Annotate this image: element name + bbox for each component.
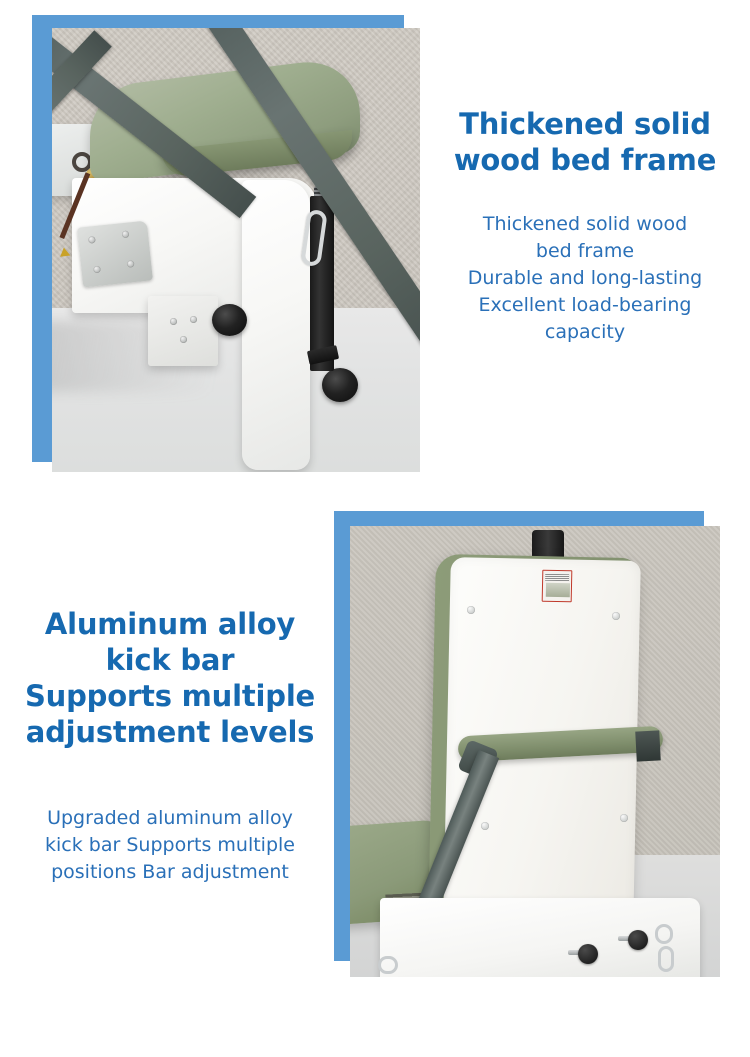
adjustment-knob xyxy=(578,944,598,964)
screw xyxy=(122,230,130,238)
screw xyxy=(170,318,177,325)
body-line: kick bar Supports multiple xyxy=(10,832,330,859)
screw xyxy=(127,260,135,268)
screw xyxy=(481,822,489,830)
screw xyxy=(620,814,628,822)
section-1-body-copy: Thickened solid wood bed frame Durable a… xyxy=(430,211,740,346)
screw xyxy=(467,606,475,614)
screw xyxy=(88,236,96,244)
warning-triangle-icon xyxy=(60,248,72,261)
feature-page: Thickened solid wood bed frame Thickened… xyxy=(0,0,750,1057)
body-line: Thickened solid wood xyxy=(430,211,740,238)
body-line: bed frame xyxy=(430,238,740,265)
frame-front-leg xyxy=(242,180,310,470)
body-line: positions Bar adjustment xyxy=(10,859,330,886)
reformer-base-box xyxy=(380,898,700,977)
kick-bar-end-cap xyxy=(635,730,661,761)
screw xyxy=(612,612,620,620)
frame-rear-block xyxy=(148,296,218,366)
body-line: Durable and long-lasting xyxy=(430,265,740,292)
section-1-headline: Thickened solid wood bed frame xyxy=(430,106,740,178)
sticker-diagram xyxy=(546,583,570,597)
caster-wheel xyxy=(322,368,358,402)
headline-line: Aluminum alloy xyxy=(10,606,330,642)
headline-line: wood bed frame xyxy=(430,142,740,178)
section-2-body-copy: Upgraded aluminum alloy kick bar Support… xyxy=(10,805,330,886)
screw xyxy=(190,316,197,323)
section-2-headline: Aluminum alloy kick bar Supports multipl… xyxy=(10,606,330,750)
headline-line: kick bar xyxy=(10,642,330,678)
screw xyxy=(93,266,101,274)
adjustment-knob xyxy=(628,930,648,950)
instruction-sticker xyxy=(542,570,573,603)
headline-line: adjustment levels xyxy=(10,714,330,750)
body-line: Upgraded aluminum alloy xyxy=(10,805,330,832)
metal-bracket-plate xyxy=(77,221,153,288)
bottom-product-photo xyxy=(350,526,720,977)
carabiner-clip xyxy=(655,924,673,944)
carabiner-clip xyxy=(378,956,398,974)
sticker-text-lines xyxy=(545,574,569,582)
caster-wheel xyxy=(212,304,247,336)
body-line: capacity xyxy=(430,319,740,346)
headline-line: Thickened solid xyxy=(430,106,740,142)
carabiner-clip xyxy=(658,946,674,972)
top-product-photo xyxy=(52,28,420,472)
body-line: Excellent load-bearing xyxy=(430,292,740,319)
screw xyxy=(180,336,187,343)
headline-line: Supports multiple xyxy=(10,678,330,714)
